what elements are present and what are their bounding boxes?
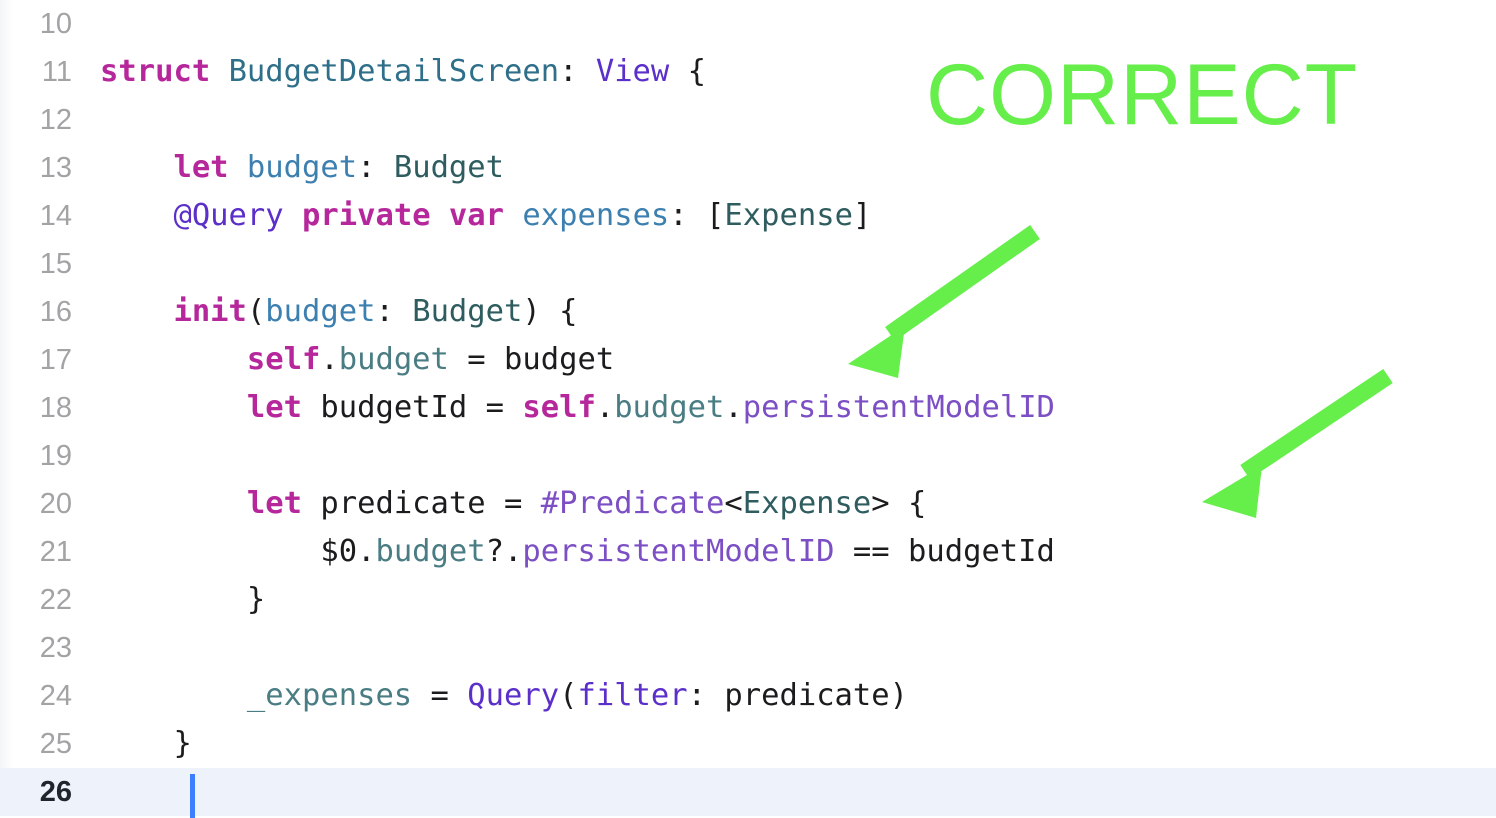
code-token: = budget xyxy=(449,342,614,377)
code-token: : xyxy=(559,54,596,89)
line-number: 14 xyxy=(0,192,72,240)
code-token: : xyxy=(375,294,412,329)
code-line[interactable]: 15 xyxy=(0,240,1496,288)
code-line[interactable]: 26 xyxy=(0,768,1496,816)
code-token: BudgetDetailScreen xyxy=(229,54,560,89)
code-token: View xyxy=(596,54,669,89)
code-token: let xyxy=(247,390,302,425)
code-token: = xyxy=(412,678,467,713)
code-text[interactable]: struct BudgetDetailScreen: View { xyxy=(100,48,706,96)
line-number: 21 xyxy=(0,528,72,576)
line-number: 23 xyxy=(0,624,72,672)
code-token: . xyxy=(724,390,742,425)
code-token xyxy=(100,534,320,569)
code-line[interactable]: 22 } xyxy=(0,576,1496,624)
code-token: Query xyxy=(467,678,559,713)
code-token: persistentModelID xyxy=(522,534,834,569)
code-token: let xyxy=(173,150,228,185)
code-token: @Query xyxy=(173,198,283,233)
text-caret xyxy=(190,774,195,818)
line-number: 10 xyxy=(0,0,72,48)
code-token xyxy=(100,342,247,377)
code-token: init xyxy=(173,294,246,329)
code-token: expenses xyxy=(522,198,669,233)
code-text[interactable]: init(budget: Budget) { xyxy=(100,288,577,336)
code-token: budget xyxy=(339,342,449,377)
line-number: 19 xyxy=(0,432,72,480)
code-token: ( xyxy=(559,678,577,713)
code-text[interactable]: let budgetId = self.budget.persistentMod… xyxy=(100,384,1055,432)
code-line[interactable]: 24 _expenses = Query(filter: predicate) xyxy=(0,672,1496,720)
code-token: : xyxy=(357,150,394,185)
code-token xyxy=(100,390,247,425)
code-token: _expenses xyxy=(247,678,412,713)
line-number: 13 xyxy=(0,144,72,192)
code-token xyxy=(504,198,522,233)
code-token: == budgetId xyxy=(835,534,1055,569)
code-line[interactable]: 20 let predicate = #Predicate<Expense> { xyxy=(0,480,1496,528)
code-token: self xyxy=(522,390,595,425)
code-token: Expense xyxy=(743,486,872,521)
code-text[interactable]: _expenses = Query(filter: predicate) xyxy=(100,672,908,720)
code-token xyxy=(100,198,173,233)
code-token: . xyxy=(596,390,614,425)
code-text[interactable]: $0.budget?.persistentModelID == budgetId xyxy=(100,528,1055,576)
code-token: budget xyxy=(265,294,375,329)
code-token: { xyxy=(669,54,706,89)
code-line[interactable]: 10 xyxy=(0,0,1496,48)
code-text[interactable]: @Query private var expenses: [Expense] xyxy=(100,192,871,240)
code-token: } xyxy=(100,726,192,761)
code-editor[interactable]: 1011struct BudgetDetailScreen: View {121… xyxy=(0,0,1496,802)
code-token xyxy=(210,54,228,89)
code-token: . xyxy=(320,342,338,377)
code-line[interactable]: 14 @Query private var expenses: [Expense… xyxy=(0,192,1496,240)
code-token: } xyxy=(100,582,265,617)
correct-annotation-label: CORRECT xyxy=(926,52,1358,138)
code-token: : predicate) xyxy=(688,678,908,713)
line-number: 11 xyxy=(0,48,72,96)
code-token xyxy=(229,150,247,185)
code-line[interactable]: 17 self.budget = budget xyxy=(0,336,1496,384)
code-token xyxy=(284,198,302,233)
code-token: Expense xyxy=(724,198,853,233)
code-line[interactable]: 13 let budget: Budget xyxy=(0,144,1496,192)
code-line[interactable]: 23 xyxy=(0,624,1496,672)
code-token: predicate = xyxy=(302,486,541,521)
code-token: struct xyxy=(100,54,210,89)
code-token xyxy=(100,294,173,329)
line-number: 18 xyxy=(0,384,72,432)
code-text[interactable]: let predicate = #Predicate<Expense> { xyxy=(100,480,926,528)
code-token: budget xyxy=(247,150,357,185)
code-text[interactable]: } xyxy=(100,720,192,768)
code-text[interactable]: let budget: Budget xyxy=(100,144,504,192)
code-token: $0. xyxy=(320,534,375,569)
line-number: 15 xyxy=(0,240,72,288)
code-line[interactable]: 25 } xyxy=(0,720,1496,768)
line-number: 25 xyxy=(0,720,72,768)
code-token: < xyxy=(724,486,742,521)
code-token: #Predicate xyxy=(541,486,725,521)
code-text[interactable]: } xyxy=(100,576,265,624)
code-token: > { xyxy=(871,486,926,521)
line-number: 26 xyxy=(0,768,72,816)
code-token: let xyxy=(247,486,302,521)
code-token: Budget xyxy=(412,294,522,329)
code-line[interactable]: 19 xyxy=(0,432,1496,480)
code-token: : [ xyxy=(669,198,724,233)
code-token: ( xyxy=(247,294,265,329)
line-number: 24 xyxy=(0,672,72,720)
code-token xyxy=(100,486,247,521)
code-line[interactable]: 21 $0.budget?.persistentModelID == budge… xyxy=(0,528,1496,576)
line-number: 17 xyxy=(0,336,72,384)
code-token xyxy=(100,678,247,713)
code-token: budget xyxy=(375,534,485,569)
code-token: filter xyxy=(577,678,687,713)
code-line[interactable]: 18 let budgetId = self.budget.persistent… xyxy=(0,384,1496,432)
code-token: private var xyxy=(302,198,504,233)
line-number: 20 xyxy=(0,480,72,528)
code-token: ) { xyxy=(522,294,577,329)
code-text[interactable]: self.budget = budget xyxy=(100,336,614,384)
line-number: 16 xyxy=(0,288,72,336)
code-token: budget xyxy=(614,390,724,425)
code-token: budgetId = xyxy=(302,390,522,425)
code-token: Budget xyxy=(394,150,504,185)
line-number: 12 xyxy=(0,96,72,144)
code-line[interactable]: 16 init(budget: Budget) { xyxy=(0,288,1496,336)
code-token: ] xyxy=(853,198,871,233)
code-token: persistentModelID xyxy=(743,390,1055,425)
line-number: 22 xyxy=(0,576,72,624)
code-token xyxy=(100,150,173,185)
code-token: self xyxy=(247,342,320,377)
code-token: ?. xyxy=(486,534,523,569)
